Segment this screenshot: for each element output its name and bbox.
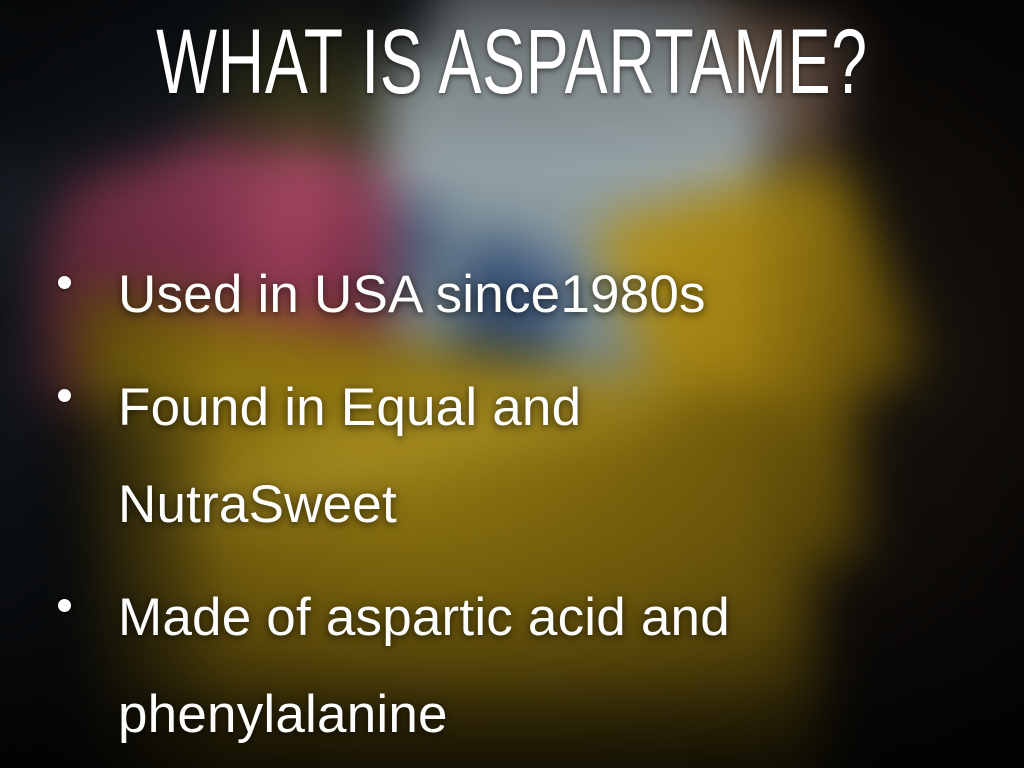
slide-title: WHAT IS ASPARTAME? [154, 14, 871, 110]
bullet-dot-icon [58, 389, 71, 402]
list-item: Used in USA since1980s [58, 246, 964, 343]
bullet-dot-icon [58, 276, 71, 289]
list-item: Found in Equal and NutraSweet [58, 359, 964, 553]
presentation-slide: WHAT IS ASPARTAME? Used in USA since1980… [0, 0, 1024, 768]
bullet-list: Used in USA since1980s Found in Equal an… [58, 246, 964, 768]
list-item: Made of aspartic acid and phenylalanine [58, 569, 964, 763]
bullet-dot-icon [58, 599, 71, 612]
bullet-text: Made of aspartic acid and phenylalanine [118, 569, 838, 763]
slide-content: WHAT IS ASPARTAME? Used in USA since1980… [0, 0, 1024, 768]
bullet-text: Found in Equal and NutraSweet [118, 359, 838, 553]
bullet-text: Used in USA since1980s [118, 246, 706, 343]
